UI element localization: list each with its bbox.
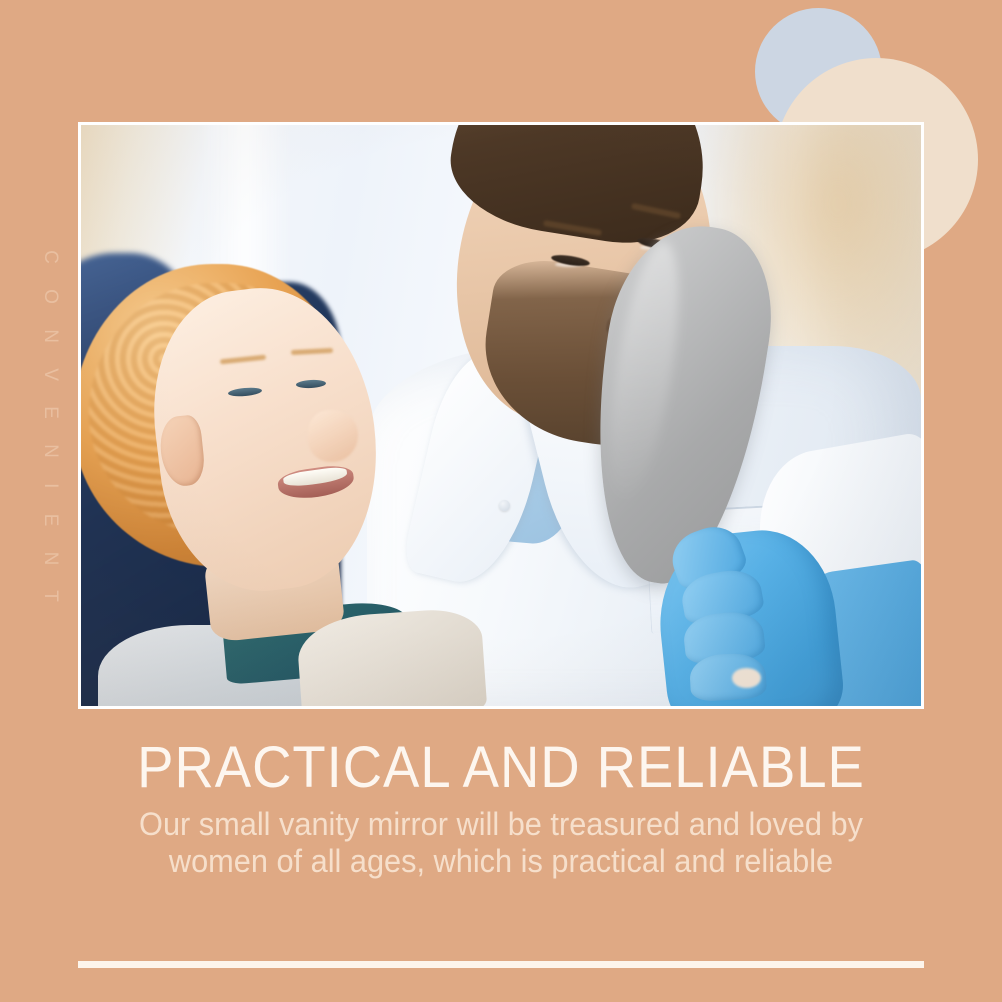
vertical-side-label: C O N V E N I E N T: [30, 300, 70, 562]
glove-thumb-gap: [732, 668, 761, 688]
subtitle: Our small vanity mirror will be treasure…: [87, 806, 915, 880]
bottom-divider: [78, 961, 924, 968]
hero-photo: [81, 125, 921, 706]
photo-frame: [78, 122, 924, 709]
subtitle-line-1: Our small vanity mirror will be treasure…: [87, 806, 915, 843]
subtitle-line-2: women of all ages, which is practical an…: [87, 843, 915, 880]
product-poster: C O N V E N I E N T: [0, 0, 1002, 1002]
page-title: PRACTICAL AND RELIABLE: [30, 735, 972, 801]
